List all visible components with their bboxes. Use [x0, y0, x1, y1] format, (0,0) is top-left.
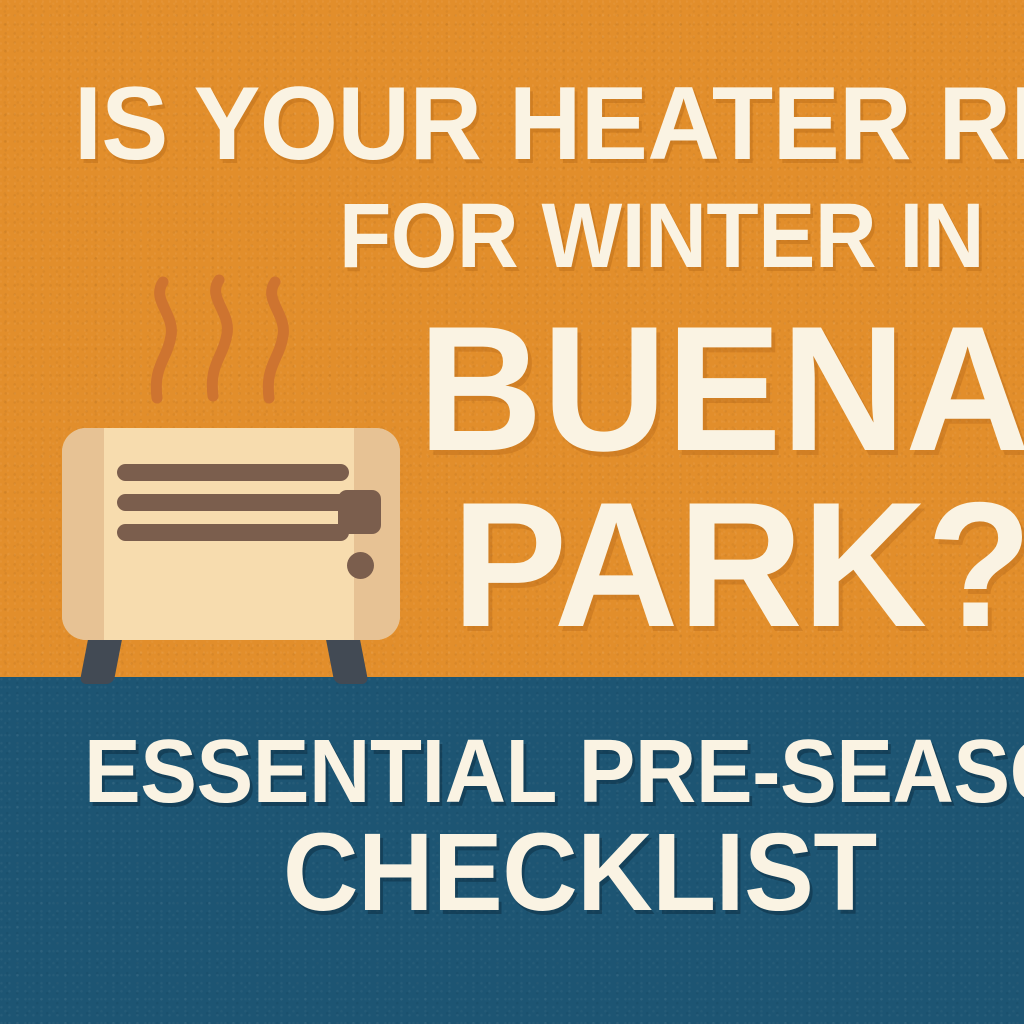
poster-canvas: IS YOUR HEATER READY FOR WINTER IN BUENA… [0, 0, 1024, 1024]
heater-grille-bar [117, 464, 349, 481]
heater-body [62, 428, 400, 640]
steam-waves-icon [147, 270, 327, 420]
heater-display-panel-icon [338, 490, 381, 534]
heater-left-edge [62, 428, 104, 640]
headline-city-line-2: PARK? [452, 476, 1024, 654]
heater-grille-bar [117, 494, 349, 511]
space-heater-illustration [52, 270, 412, 680]
headline-line-2: FOR WINTER IN [339, 190, 984, 282]
heater-leg-right [325, 636, 368, 684]
subheadline-line-2: CHECKLIST [283, 818, 877, 928]
heater-right-edge [354, 428, 400, 640]
heater-grille-bar [117, 524, 349, 541]
heater-knob-icon [347, 552, 374, 579]
heater-leg-left [79, 636, 122, 684]
headline-line-1: IS YOUR HEATER READY [74, 72, 1024, 176]
headline-city-line-1: BUENA [418, 300, 1024, 478]
subheadline-line-1: ESSENTIAL PRE-SEASON [84, 727, 1024, 817]
